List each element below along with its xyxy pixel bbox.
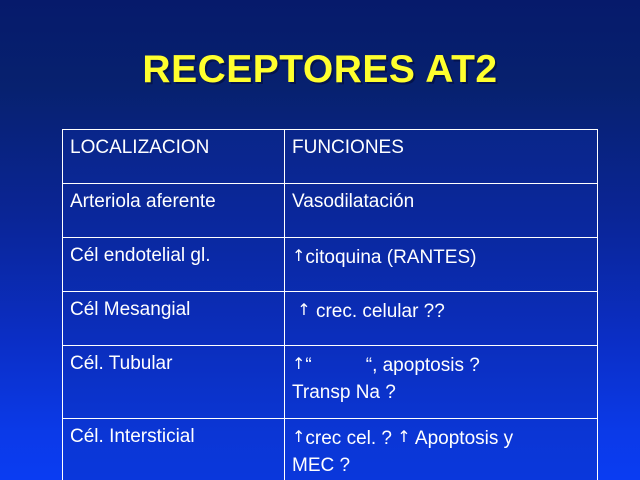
funciones-text-b: Apoptosis y — [415, 428, 513, 449]
cell-localizacion: Cél endotelial gl. — [63, 238, 285, 292]
cell-localizacion: Arteriola aferente — [63, 184, 285, 238]
table-row: Cél Mesangial ↑ crec. celular ?? — [63, 292, 598, 346]
funciones-text: Vasodilatación — [292, 191, 414, 212]
ditto-mark-open: “ — [305, 355, 311, 376]
column-header-funciones: FUNCIONES — [285, 130, 598, 184]
funciones-text: crec cel. ? — [305, 428, 392, 449]
cell-funciones: ↑““, apoptosis ?Transp Na ? — [285, 346, 598, 419]
funciones-text-line2: Transp Na ? — [292, 382, 396, 403]
cell-funciones: ↑citoquina (RANTES) — [285, 238, 598, 292]
up-arrow-icon: ↑ — [292, 354, 305, 373]
cell-localizacion: Cél Mesangial — [63, 292, 285, 346]
table-row: Cél. Intersticial ↑crec cel. ? ↑ Apoptos… — [63, 419, 598, 480]
column-header-localizacion: LOCALIZACION — [63, 130, 285, 184]
cell-funciones: ↑crec cel. ? ↑ Apoptosis yMEC ? — [285, 419, 598, 480]
receptor-functions-table: LOCALIZACION FUNCIONES Arteriola aferent… — [62, 129, 598, 480]
table-row: Arteriola aferente Vasodilatación — [63, 184, 598, 238]
funciones-text: , apoptosis ? — [372, 355, 480, 376]
table-row: Cél. Tubular ↑““, apoptosis ?Transp Na ? — [63, 346, 598, 419]
slide-canvas: RECEPTORES AT2 LOCALIZACION FUNCIONES Ar… — [0, 0, 640, 480]
funciones-text-line2: MEC ? — [292, 455, 350, 476]
funciones-text: crec. celular ?? — [316, 301, 445, 322]
page-title: RECEPTORES AT2 — [0, 48, 640, 92]
cell-localizacion: Cél. Tubular — [63, 346, 285, 419]
cell-funciones: Vasodilatación — [285, 184, 598, 238]
funciones-text: citoquina (RANTES) — [305, 247, 476, 268]
table-row: Cél endotelial gl. ↑citoquina (RANTES) — [63, 238, 598, 292]
table-header-row: LOCALIZACION FUNCIONES — [63, 130, 598, 184]
cell-localizacion: Cél. Intersticial — [63, 419, 285, 480]
up-arrow-icon: ↑ — [297, 300, 310, 319]
up-arrow-icon-2: ↑ — [397, 427, 410, 446]
up-arrow-icon: ↑ — [292, 246, 305, 265]
up-arrow-icon: ↑ — [292, 427, 305, 446]
cell-funciones: ↑ crec. celular ?? — [285, 292, 598, 346]
